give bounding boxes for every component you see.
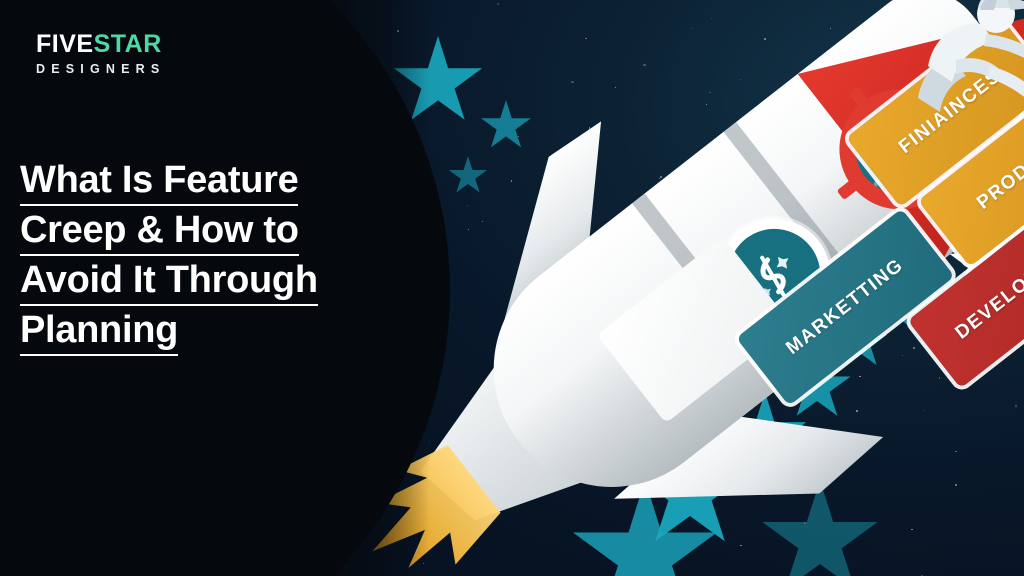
headline-line-1: What Is Feature (20, 158, 298, 206)
page-title: What Is Feature Creep & How to Avoid It … (20, 158, 412, 358)
person-riding-rocket (890, 0, 1024, 138)
hero-banner: MARKETTING DEVELOIPMENT FINIAINCES PRODU… (0, 0, 1024, 576)
block-product-label: PRODUCT (973, 132, 1024, 214)
logo-wordmark: FIVESTAR (36, 32, 165, 57)
headline-line-4: Planning (20, 308, 178, 356)
logo-star-text: STAR (94, 30, 162, 58)
brand-logo[interactable]: FIVESTAR DESIGNERS (36, 32, 165, 76)
block-marketing-label: MARKETTING (782, 255, 908, 360)
logo-five-text: FIVE (36, 30, 94, 58)
headline-line-2: Creep & How to (20, 208, 299, 256)
logo-subtitle: DESIGNERS (36, 62, 165, 76)
headline-line-3: Avoid It Through (20, 258, 318, 306)
